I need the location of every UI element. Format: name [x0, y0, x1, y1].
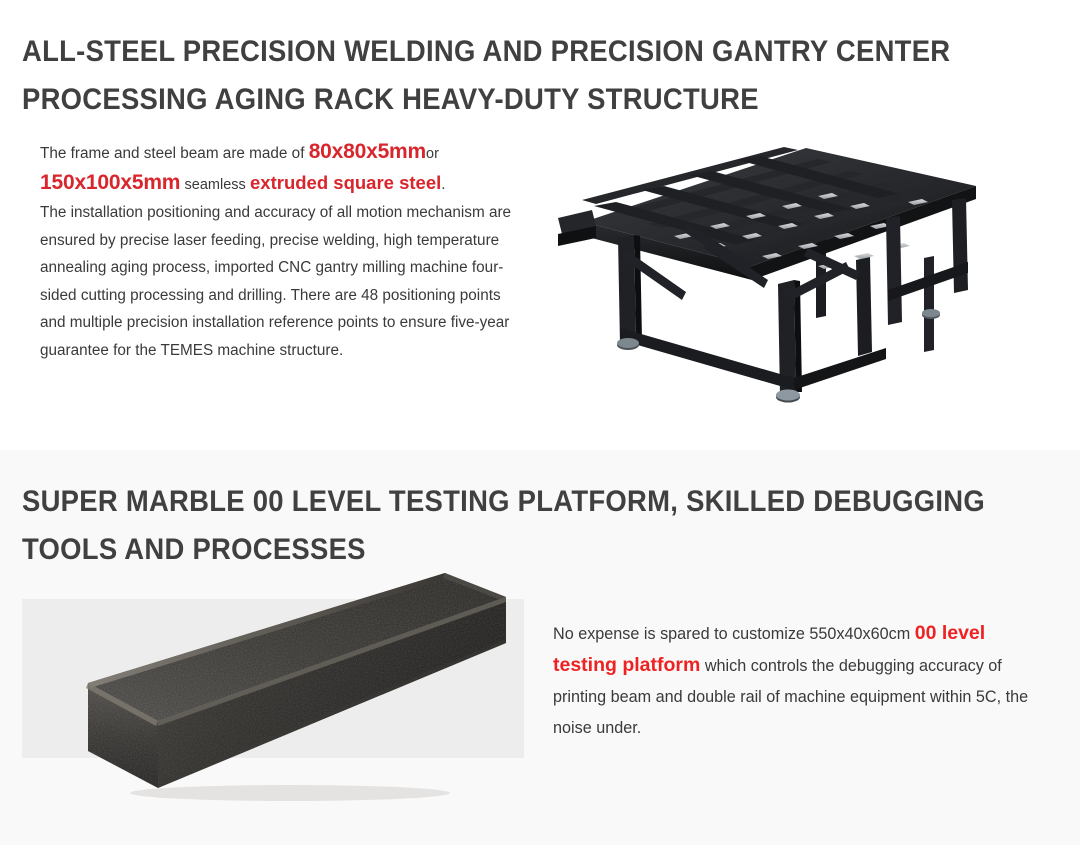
section-one-detail-paragraph: The installation positioning and accurac…: [40, 199, 522, 364]
steel-rack-image: [556, 140, 986, 435]
marble-block-image: [40, 555, 536, 845]
section-one-lead-paragraph: The frame and steel beam are made of 80x…: [40, 138, 522, 199]
conjunction-or: or: [426, 146, 439, 162]
section-steel-frame: ALL-STEEL PRECISION WELDING AND PRECISIO…: [0, 0, 1080, 450]
seamless-text: seamless: [185, 177, 246, 193]
accent-spec-150x100x5mm: 150x100x5mm: [40, 171, 180, 194]
section-one-heading: ALL-STEEL PRECISION WELDING AND PRECISIO…: [22, 28, 989, 124]
marble-block-illustration: [40, 555, 536, 845]
marble-lead-text: No expense is spared to customize 550x40…: [553, 625, 910, 643]
steel-rack-illustration: [556, 140, 986, 435]
accent-extruded-square-steel: extruded square steel: [250, 172, 441, 193]
lead-period: .: [441, 176, 445, 193]
section-two-text-column: No expense is spared to customize 550x40…: [553, 618, 1043, 744]
product-detail-page: ALL-STEEL PRECISION WELDING AND PRECISIO…: [0, 0, 1080, 845]
lead-prefix-text: The frame and steel beam are made of: [40, 145, 309, 162]
section-one-text-column: The frame and steel beam are made of 80x…: [40, 138, 522, 364]
section-marble-platform: SUPER MARBLE 00 LEVEL TESTING PLATFORM, …: [0, 450, 1080, 845]
section-two-paragraph: No expense is spared to customize 550x40…: [553, 618, 1043, 744]
accent-spec-80x80x5mm: 80x80x5mm: [309, 140, 426, 163]
